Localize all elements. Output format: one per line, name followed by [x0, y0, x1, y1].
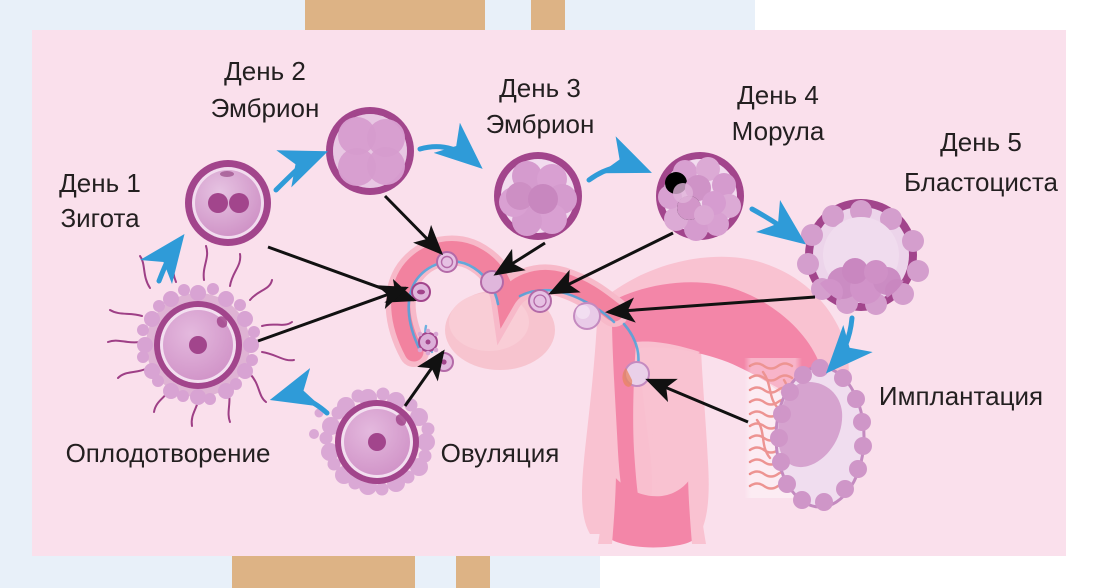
zygote-pronucleus-right — [229, 193, 249, 213]
stage-embryo-day3 — [494, 152, 582, 240]
label-day2-line2: Эмбрион — [211, 93, 320, 123]
label-day1-line2: Зигота — [60, 203, 140, 233]
tube-embryo-morula — [437, 252, 457, 272]
label-day3-line1: День 3 — [499, 73, 581, 103]
label-implantation: Имплантация — [879, 381, 1043, 411]
label-day1-line1: День 1 — [59, 168, 141, 198]
accent-block-top-wide — [305, 0, 485, 32]
tube-embryo-4cell — [529, 290, 551, 312]
zygote-pronucleus-left — [208, 193, 228, 213]
oocyte-nucleus — [189, 336, 207, 354]
label-ovulation: Овуляция — [441, 438, 560, 468]
label-day4-line1: День 4 — [737, 80, 819, 110]
ovulated-egg-nucleus — [441, 359, 446, 364]
stage-zygote — [185, 160, 271, 246]
tube-embryo-8cell — [481, 271, 503, 293]
label-day4-line2: Морула — [732, 116, 825, 146]
accent-block-bottom-wide — [232, 556, 415, 588]
label-day3-line2: Эмбрион — [486, 109, 595, 139]
ovulation-oocyte-nucleus — [368, 433, 386, 451]
label-day2-line1: День 2 — [224, 56, 306, 86]
diagram-canvas: День 1 Зигота День 2 Эмбрион День 3 Эмбр… — [0, 0, 1100, 588]
tube-blastocyst-cavity — [576, 305, 590, 319]
accent-block-bottom-narrow — [456, 556, 490, 588]
accent-block-top-narrow — [531, 0, 565, 32]
stage-embryo-day2 — [326, 107, 414, 195]
label-fertilization: Оплодотворение — [66, 438, 271, 468]
label-day5-line2: Бластоциста — [904, 167, 1059, 197]
tube-fertilized-egg-nucleus — [426, 340, 431, 345]
tube-zygote-nuclei — [417, 290, 425, 295]
zygote-polar-bodies — [220, 171, 234, 177]
label-day5-line1: День 5 — [940, 127, 1022, 157]
left-blue-band — [0, 38, 32, 588]
